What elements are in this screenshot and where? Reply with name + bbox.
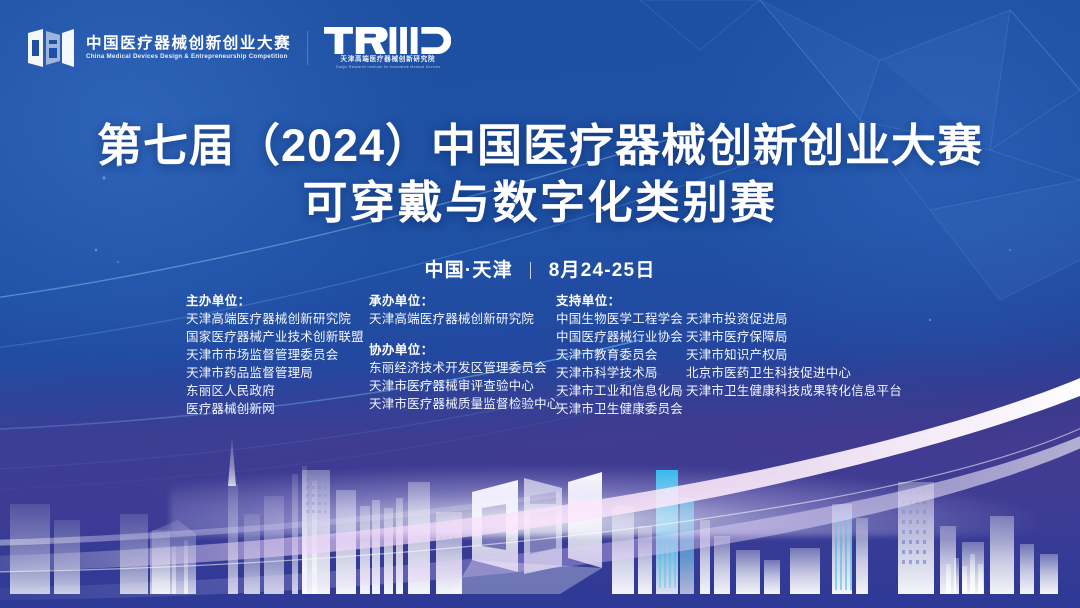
poster-title: 第七届（2024）中国医疗器械创新创业大赛 可穿戴与数字化类别赛 [0, 118, 1080, 231]
unit-group-organizer: 承办单位： 天津高端医疗器械创新研究院 [369, 292, 556, 328]
units-column-3: 支持单位： 中国生物医学工程学会 中国医疗器械行业协会 天津市教育委员会 天津市… [556, 292, 686, 418]
date-text: 8月24-25日 [549, 260, 656, 281]
unit-item: 天津市卫生健康科技成果转化信息平台 [686, 382, 886, 400]
unit-item: 中国医疗器械行业协会 [556, 328, 686, 346]
unit-item: 北京市医药卫生科技促进中心 [686, 364, 886, 382]
unit-item: 天津市医疗器械质量监督检验中心 [369, 395, 556, 413]
competition-logo-cn: 中国医疗器械创新创业大赛 [86, 36, 291, 52]
unit-heading: 协办单位： [369, 341, 556, 359]
units-column-1: 主办单位： 天津高端医疗器械创新研究院 国家医疗器械产业技术创新联盟 天津市市场… [186, 292, 369, 418]
unit-item: 天津市医疗器械审评查验中心 [369, 377, 556, 395]
city-skyline [0, 408, 1080, 608]
event-poster: 中国医疗器械创新创业大赛 China Medical Devices Desig… [0, 0, 1080, 608]
unit-heading-spacer [686, 292, 886, 310]
unit-item: 中国生物医学工程学会 [556, 310, 686, 328]
header-logos: 中国医疗器械创新创业大赛 China Medical Devices Desig… [26, 20, 451, 76]
unit-group-support-continued: 天津市投资促进局 天津市医疗保障局 天津市知识产权局 北京市医药卫生科技促进中心… [686, 292, 886, 400]
organizer-units: 主办单位： 天津高端医疗器械创新研究院 国家医疗器械产业技术创新联盟 天津市市场… [186, 292, 886, 418]
unit-item: 天津市医疗保障局 [686, 328, 886, 346]
units-column-4: 天津市投资促进局 天津市医疗保障局 天津市知识产权局 北京市医药卫生科技促进中心… [686, 292, 886, 400]
unit-item: 天津市投资促进局 [686, 310, 886, 328]
unit-item: 天津市工业和信息化局 [556, 382, 686, 400]
title-line-1: 第七届（2024）中国医疗器械创新创业大赛 [0, 118, 1080, 175]
institute-logo-en: Tianjin Research Institute for Innovativ… [335, 66, 440, 69]
unit-item: 天津市科学技术局 [556, 364, 686, 382]
unit-item: 天津高端医疗器械创新研究院 [186, 310, 369, 328]
triid-wordmark-icon [324, 27, 451, 54]
unit-group-host: 主办单位： 天津高端医疗器械创新研究院 国家医疗器械产业技术创新联盟 天津市市场… [186, 292, 369, 418]
unit-heading: 承办单位： [369, 292, 556, 310]
institute-logo: 天津高端医疗器械创新研究院 Tianjin Research Institute… [324, 27, 451, 70]
institute-logo-cn: 天津高端医疗器械创新研究院 [340, 57, 435, 64]
unit-item: 天津市卫生健康委员会 [556, 400, 686, 418]
unit-item: 国家医疗器械产业技术创新联盟 [186, 328, 369, 346]
location-text: 中国·天津 [424, 260, 512, 281]
unit-item: 天津市市场监督管理委员会 [186, 346, 369, 364]
meta-separator [530, 262, 531, 279]
unit-item: 天津市教育委员会 [556, 346, 686, 364]
unit-heading: 主办单位： [186, 292, 369, 310]
unit-group-support: 支持单位： 中国生物医学工程学会 中国医疗器械行业协会 天津市教育委员会 天津市… [556, 292, 686, 418]
title-line-2: 可穿戴与数字化类别赛 [0, 175, 1080, 232]
unit-item: 医疗器械创新网 [186, 400, 369, 418]
competition-logo: 中国医疗器械创新创业大赛 China Medical Devices Desig… [26, 28, 291, 68]
unit-item: 天津高端医疗器械创新研究院 [369, 310, 556, 328]
unit-item: 东丽区人民政府 [186, 382, 369, 400]
unit-group-coorganizer: 协办单位： 东丽经济技术开发区管理委员会 天津市医疗器械审评查验中心 天津市医疗… [369, 341, 556, 413]
unit-item: 东丽经济技术开发区管理委员会 [369, 359, 556, 377]
unit-heading: 支持单位： [556, 292, 686, 310]
logo-divider [307, 31, 308, 65]
units-column-2: 承办单位： 天津高端医疗器械创新研究院 协办单位： 东丽经济技术开发区管理委员会… [369, 292, 556, 413]
open-door-logo-icon [26, 28, 76, 68]
unit-item: 天津市药品监督管理局 [186, 364, 369, 382]
competition-logo-en: China Medical Devices Design & Entrepren… [86, 54, 295, 60]
skyline-haze [170, 466, 1040, 536]
unit-item: 天津市知识产权局 [686, 346, 886, 364]
location-date-line: 中国·天津 8月24-25日 [0, 255, 1080, 282]
